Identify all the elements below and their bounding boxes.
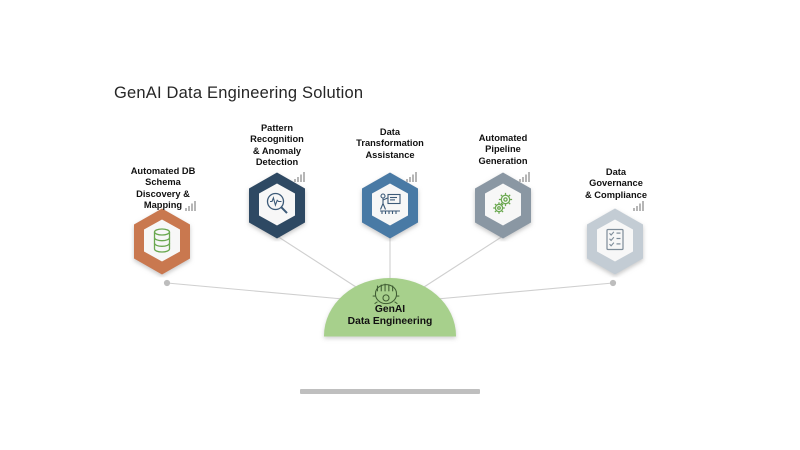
label-line: Governance: [585, 178, 647, 189]
label-line: Data: [585, 167, 647, 178]
ai-brain-chip-icon: [373, 284, 400, 304]
node-label-pipeline-generation: Automated Pipeline Generation: [478, 133, 527, 167]
signal-bars-icon: [519, 169, 531, 187]
signal-bars-icon: [294, 169, 306, 187]
node-label-pattern-recognition: Pattern Recognition & Anomaly Detection: [250, 123, 304, 169]
signal-bars-icon: [406, 169, 418, 187]
label-line: Mapping: [131, 200, 196, 211]
label-line: & Compliance: [585, 190, 647, 201]
page-title: GenAI Data Engineering Solution: [114, 84, 363, 103]
bottom-divider-bar: [300, 389, 480, 394]
label-line: Automated: [478, 133, 527, 144]
node-label-data-transformation: Data Transformation Assistance: [356, 127, 424, 161]
label-line: Automated DB: [131, 166, 196, 177]
hub-label: GenAI Data Engineering: [348, 304, 433, 329]
node-label-db-schema: Automated DB Schema Discovery & Mapping: [131, 166, 196, 212]
label-line: & Anomaly: [250, 146, 304, 157]
hub-label-line1: GenAI: [348, 304, 433, 316]
label-line: Generation: [478, 156, 527, 167]
label-line: Pipeline: [478, 144, 527, 155]
label-line: Pattern: [250, 123, 304, 134]
connector-endpoint-dots: [164, 280, 616, 286]
hexagon-shape-db-schema[interactable]: [128, 206, 196, 283]
label-line: Assistance: [356, 150, 424, 161]
label-line: Discovery &: [131, 189, 196, 200]
diagram-canvas: GenAI Data Engineering Solution: [0, 0, 800, 450]
label-line: Recognition: [250, 134, 304, 145]
hub-label-line2: Data Engineering: [348, 316, 433, 328]
hexagon-shape-data-governance[interactable]: [581, 206, 649, 283]
label-line: Detection: [250, 157, 304, 168]
label-line: Schema: [131, 177, 196, 188]
label-line: Data: [356, 127, 424, 138]
node-label-data-governance: Data Governance & Compliance: [585, 167, 647, 201]
label-line: Transformation: [356, 138, 424, 149]
